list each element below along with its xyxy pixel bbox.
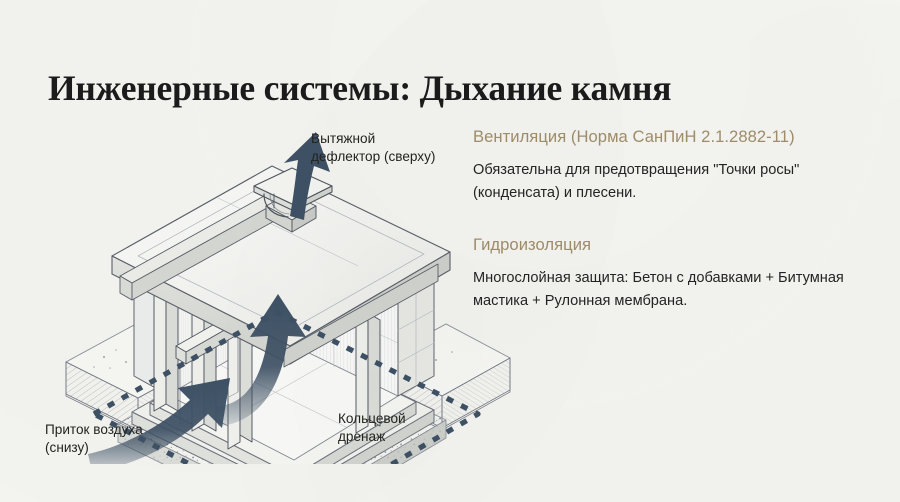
ventilation-diagram — [58, 124, 518, 464]
isometric-crypt-drawing — [58, 124, 518, 464]
section-body-waterproofing: Многослойная защита: Бетон с добавками +… — [473, 267, 858, 312]
section-body-ventilation: Обязательна для предотвращения "Точки ро… — [473, 159, 858, 204]
content-column: Вентиляция (Норма СанПиН 2.1.2882-11) Об… — [473, 126, 865, 312]
callout-drainage: Кольцевой дренаж — [338, 410, 406, 445]
section-heading-ventilation: Вентиляция (Норма СанПиН 2.1.2882-11) — [473, 126, 865, 148]
section-ventilation: Вентиляция (Норма СанПиН 2.1.2882-11) Об… — [473, 126, 865, 204]
section-heading-waterproofing: Гидроизоляция — [473, 234, 865, 256]
callout-deflector: Вытяжной дефлектор (сверху) — [311, 130, 435, 165]
page-title: Инженерные системы: Дыхание камня — [48, 66, 671, 110]
section-waterproofing: Гидроизоляция Многослойная защита: Бетон… — [473, 234, 865, 312]
slide-root: Инженерные системы: Дыхание камня — [0, 0, 900, 502]
callout-inflow: Приток воздуха (снизу) — [45, 421, 143, 456]
